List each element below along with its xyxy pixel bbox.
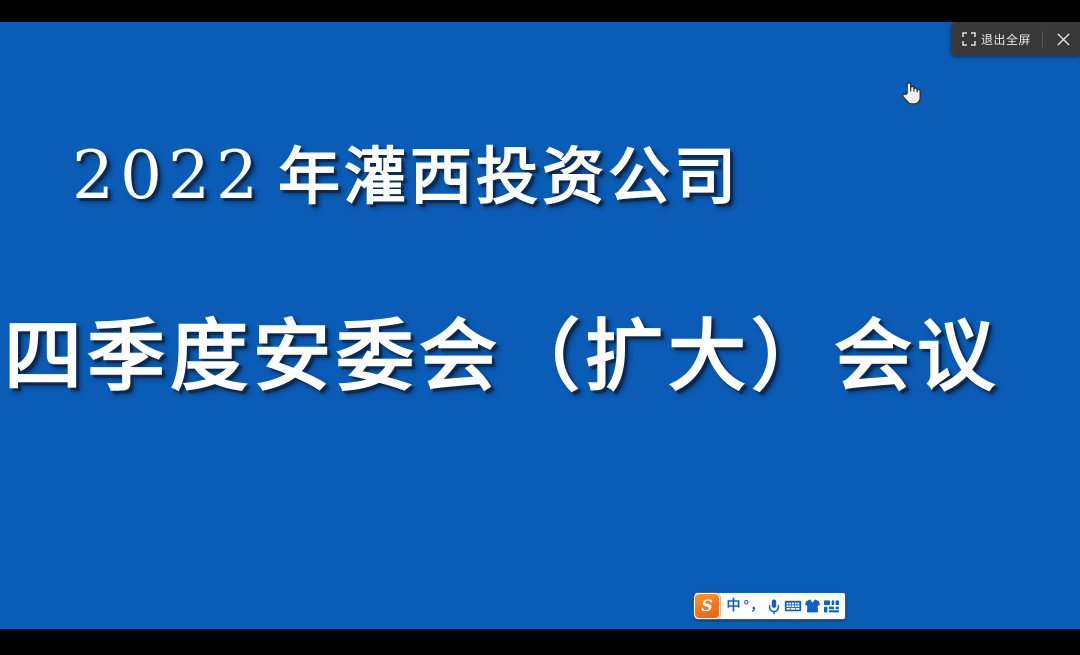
shrink-fullscreen-icon (962, 32, 976, 46)
exit-fullscreen-button[interactable]: 退出全屏 (959, 22, 1039, 56)
microphone-icon (766, 598, 782, 615)
screen-capture: 2022年灌西投资公司 四季度安委会（扩大）会议 S 中 °， (0, 0, 1080, 655)
slide-title-line-2: 四季度安委会（扩大）会议 (4, 305, 1000, 409)
chinese-mode-icon: 中 (727, 599, 741, 613)
close-icon (1057, 33, 1070, 46)
shirt-icon (804, 598, 821, 614)
soft-keyboard-button[interactable] (784, 594, 803, 618)
input-mode-button[interactable]: 中 (724, 594, 743, 618)
punctuation-button[interactable]: °， (743, 594, 765, 618)
slide-title-line-1: 2022年灌西投资公司 (72, 134, 740, 219)
sogou-ime-status-bar[interactable]: S 中 °， (694, 592, 846, 620)
toolbox-grid-icon (823, 599, 840, 614)
punctuation-icon: °， (743, 600, 765, 613)
skin-button[interactable] (803, 594, 822, 618)
fullscreen-overlay-toolbar[interactable]: 退出全屏 (951, 22, 1080, 56)
toolbox-button[interactable] (822, 594, 841, 618)
letterbox-bottom (0, 629, 1080, 655)
close-button[interactable] (1046, 22, 1080, 56)
toolbar-divider (1042, 31, 1043, 47)
letterbox-top (0, 0, 1080, 22)
slide-title-line-1-text: 年灌西投资公司 (278, 140, 740, 213)
presentation-slide[interactable]: 2022年灌西投资公司 四季度安委会（扩大）会议 S 中 °， (0, 22, 1080, 629)
slide-title-year: 2022 (72, 137, 264, 214)
sogou-logo-icon: S (701, 598, 713, 614)
voice-input-button[interactable] (765, 594, 784, 618)
exit-fullscreen-label: 退出全屏 (981, 31, 1031, 48)
sogou-logo-button[interactable]: S (694, 593, 720, 619)
hand-pointer-cursor (900, 80, 922, 106)
keyboard-icon (784, 599, 802, 613)
